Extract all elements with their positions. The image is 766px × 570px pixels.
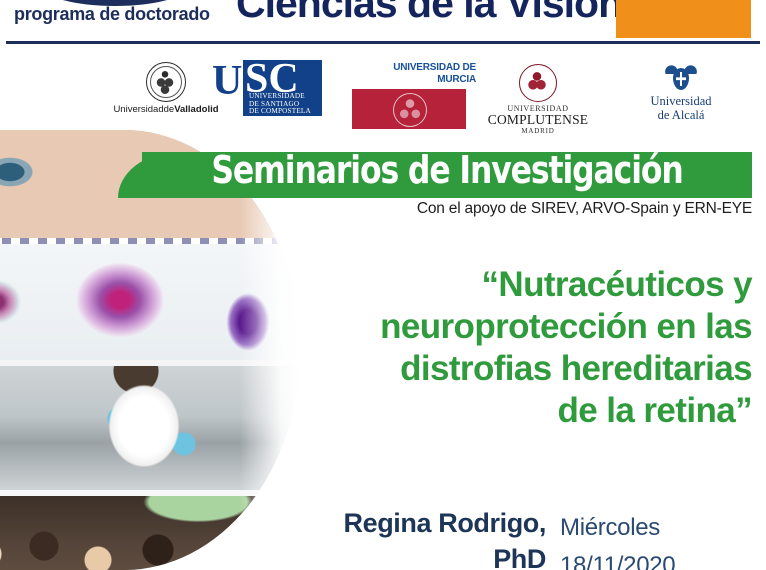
seminar-title-line-3: distrofias hereditarias [290, 348, 752, 390]
poster-header: visión programa de doctorado Ciencias de… [0, 0, 766, 46]
speaker-name-line-1: Regina Rodrigo, [306, 505, 546, 541]
seminar-weekday: Miércoles [560, 509, 760, 547]
valladolid-seal-icon [146, 62, 186, 102]
complutense-line-3: MADRID [470, 127, 606, 135]
murcia-line-2: MURCIA [352, 74, 476, 86]
logo-universidad-complutense-madrid: UNIVERSIDAD COMPLUTENSE MADRID [470, 64, 606, 135]
alcala-crest-icon [663, 60, 699, 94]
complutense-seal-icon [519, 64, 557, 102]
page-title: Ciencias de la Visión [236, 0, 622, 27]
murcia-name: UNIVERSIDAD DE MURCIA [352, 62, 476, 86]
logo-universidade-de-santiago-de-compostela: U SC UNIVERSIDADE DE SANTIAGO DE COMPOST… [212, 60, 326, 116]
logo-universidad-de-alcala: Universidad de Alcalá [606, 60, 756, 122]
speaker-name: Regina Rodrigo, PhD [306, 505, 546, 570]
alcala-line-2: de Alcalá [606, 108, 756, 122]
murcia-crest-icon [352, 89, 466, 129]
usc-name-lines: UNIVERSIDADE DE SANTIAGO DE COMPOSTELA [249, 93, 311, 116]
complutense-line-2: COMPLUTENSE [470, 113, 606, 127]
program-subtitle: programa de doctorado [14, 4, 210, 25]
header-divider-navy [6, 41, 760, 44]
banner-title: Seminarios de Investigación [166, 148, 727, 192]
seminar-banner: Seminarios de Investigación [142, 152, 752, 198]
banner-support-text: Con el apoyo de SIREV, ARVO-Spain y ERN-… [300, 200, 752, 218]
speaker-name-line-2: PhD [306, 541, 546, 570]
seminar-date-value: 18/11/2020 [560, 547, 760, 570]
uva-doctorado-badge: Universidad de Valladolid DOCTORADO [616, 0, 751, 38]
alcala-wings [665, 62, 697, 74]
usc-mark-icon: U SC UNIVERSIDADE DE SANTIAGO DE COMPOST… [212, 60, 322, 116]
seminar-poster: visión programa de doctorado Ciencias de… [0, 0, 766, 570]
logo-universidad-de-murcia: UNIVERSIDAD DE MURCIA [352, 62, 476, 129]
alcala-line-1: Universidad [606, 94, 756, 108]
seminar-title: “Nutracéuticos y neuroprotección en las … [290, 264, 752, 432]
seminar-title-line-4: de la retina” [290, 390, 752, 432]
seminar-title-line-1: “Nutracéuticos y [290, 264, 752, 306]
university-logo-strip: UniversidaddeValladolid U SC UNIVERSIDAD… [0, 58, 766, 136]
murcia-line-1: UNIVERSIDAD DE [352, 62, 476, 74]
seminar-date: Miércoles 18/11/2020 [560, 509, 760, 570]
seminar-title-line-2: neuroprotección en las [290, 306, 752, 348]
usc-line-3: DE COMPOSTELA [249, 108, 311, 116]
usc-letter-u: U [212, 60, 242, 102]
